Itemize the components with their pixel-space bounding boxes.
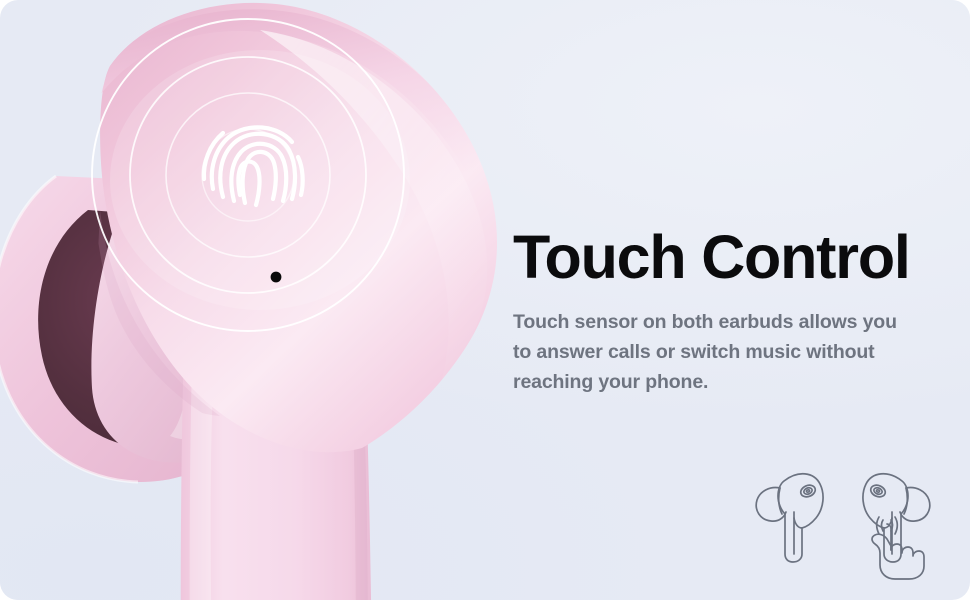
left-earbud-icon <box>756 474 823 562</box>
description-text: Touch sensor on both earbuds allows you … <box>513 307 917 397</box>
copy-block: Touch Control Touch sensor on both earbu… <box>513 225 925 397</box>
touch-control-banner: Touch Control Touch sensor on both earbu… <box>0 0 970 600</box>
earbud-icon-group <box>748 458 938 578</box>
microphone-hole <box>271 272 282 283</box>
page-title: Touch Control <box>513 225 925 289</box>
product-image <box>0 0 580 600</box>
